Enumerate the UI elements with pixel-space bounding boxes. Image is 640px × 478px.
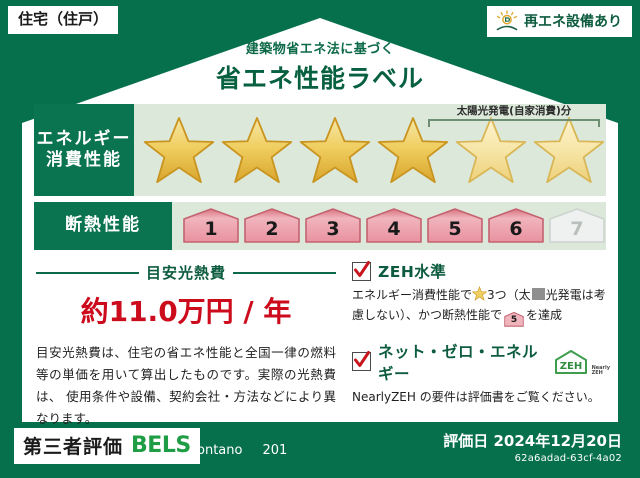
energy-row-body: 太陽光発電(自家消費)分 xyxy=(134,104,606,196)
renewable-equipment-badge: 再エネ設備あり xyxy=(487,6,632,37)
evaluation-info: 評価日 2024年12月20日 62a6adad-63cf-4a02 xyxy=(443,430,622,464)
label-title: 建築物省エネ法に基づく 省エネ性能ラベル xyxy=(0,38,640,95)
insulation-row-label: 断熱性能 xyxy=(34,202,172,250)
insulation-level-value: 5 xyxy=(448,218,461,244)
insulation-level-value: 1 xyxy=(204,218,217,244)
insulation-level-value: 3 xyxy=(326,218,339,244)
energy-performance-row: エネルギー 消費性能 xyxy=(34,104,606,196)
evaluation-date: 評価日 2024年12月20日 xyxy=(443,430,622,451)
zeh-desc-part-a: エネルギー消費性能で xyxy=(352,288,472,302)
insulation-level-value: 7 xyxy=(570,218,583,244)
heading-rule-left xyxy=(36,272,139,274)
utility-cost-heading: 目安光熱費 xyxy=(36,262,336,283)
zeh-section: ZEH水準 エネルギー消費性能で3つ（太光発電は考慮しない）、かつ断熱性能で5を… xyxy=(352,260,610,408)
energy-row-label: エネルギー 消費性能 xyxy=(34,104,134,196)
project-name: Lontano xyxy=(190,443,242,458)
energy-label-line1: エネルギー xyxy=(37,129,132,150)
redacted-character xyxy=(532,288,545,300)
insulation-level-5: 5 xyxy=(426,208,484,244)
zeh-logo: ZEH Nearly ZEH xyxy=(551,348,610,376)
zeh-logo-text: ZEH xyxy=(559,361,581,372)
insulation-level-value: 4 xyxy=(387,218,400,244)
energy-performance-label: 住宅（住戸） 再エネ設備あり 建築物省エネ法に基づく 省エネ性能ラベル エネルギ… xyxy=(0,0,640,478)
project-unit: 201 xyxy=(262,443,287,458)
net-zero-energy-description: NearlyZEH の要件は評価書をご覧ください。 xyxy=(352,388,610,408)
category-tag: 住宅（住戸） xyxy=(8,6,118,34)
utility-cost-value: 約11.0万円 / 年 xyxy=(36,290,336,330)
insulation-level-1: 1 xyxy=(182,208,240,244)
title-subtitle: 建築物省エネ法に基づく xyxy=(0,38,640,57)
bels-jp-label: 第三者評価 xyxy=(23,432,123,459)
insulation-level-4: 4 xyxy=(365,208,423,244)
insulation-level-3: 3 xyxy=(304,208,362,244)
utility-cost-note: 目安光熱費は、住宅の省エネ性能と全国一律の燃料 等の単価を用いて算出したものです… xyxy=(36,342,336,430)
insulation-level-6: 6 xyxy=(487,208,545,244)
evaluation-id: 62a6adad-63cf-4a02 xyxy=(443,453,622,464)
zeh-standard-description: エネルギー消費性能で3つ（太光発電は考慮しない）、かつ断熱性能で5を達成 xyxy=(352,286,610,327)
bels-certification-badge: 第三者評価 BELS xyxy=(14,428,200,464)
chip-level-value: 5 xyxy=(504,312,524,328)
check-mark-icon xyxy=(353,260,371,280)
zeh-standard-row: ZEH水準 xyxy=(352,260,610,282)
zeh-logo-subtext: Nearly ZEH xyxy=(592,366,610,376)
sun-icon xyxy=(495,10,519,32)
zeh-house-icon: ZEH xyxy=(551,348,591,376)
check-mark-icon xyxy=(353,350,371,370)
zeh-standard-title: ZEH水準 xyxy=(378,260,446,282)
insulation-performance-row: 断熱性能 1 2 xyxy=(34,202,606,250)
zeh-desc-part-e: を達成 xyxy=(526,308,562,322)
heading-rule-right xyxy=(233,272,336,274)
utility-cost-heading-label: 目安光熱費 xyxy=(146,262,226,283)
title-main: 省エネ性能ラベル xyxy=(0,59,640,95)
renewable-badge-label: 再エネ設備あり xyxy=(524,11,622,31)
energy-label-line2: 消費性能 xyxy=(46,150,122,171)
checkbox-checked-icon xyxy=(352,352,371,371)
insulation-level-2: 2 xyxy=(243,208,301,244)
insulation-level-7: 7 xyxy=(548,208,606,244)
star-icon-inline xyxy=(472,286,487,301)
cost-note-line-1: 目安光熱費は、住宅の省エネ性能と全国一律の燃料 xyxy=(36,345,336,360)
checkbox-checked-icon xyxy=(352,262,371,281)
star-icon xyxy=(220,115,294,185)
project-identifier: Lontano 201 xyxy=(190,443,287,458)
insulation-row-body: 1 2 3 4 xyxy=(172,202,606,250)
star-icon xyxy=(142,115,216,185)
cost-note-line-3: 使用条件や設備、契約会社・方法などにより異なります。 xyxy=(36,389,336,426)
insulation-level-scale: 1 2 3 4 xyxy=(172,208,606,244)
insulation-level-chip-inline: 5 xyxy=(504,312,524,327)
net-zero-energy-title: ネット・ゼロ・エネルギー xyxy=(378,340,544,384)
solar-annotation-label: 太陽光発電(自家消費)分 xyxy=(428,103,600,118)
zeh-logo-sub2: ZEH xyxy=(592,371,610,376)
net-zero-energy-row: ネット・ゼロ・エネルギー ZEH Nearly ZEH xyxy=(352,340,610,384)
solar-annotation-bracket xyxy=(428,119,600,127)
insulation-level-value: 6 xyxy=(509,218,522,244)
utility-cost-section: 目安光熱費 約11.0万円 / 年 目安光熱費は、住宅の省エネ性能と全国一律の燃… xyxy=(36,262,336,430)
zeh-desc-part-c: 光発電 xyxy=(546,288,582,302)
bels-en-label: BELS xyxy=(131,433,191,458)
insulation-level-value: 2 xyxy=(265,218,278,244)
zeh-desc-part-b: 3つ（太 xyxy=(487,288,531,302)
star-icon xyxy=(298,115,372,185)
